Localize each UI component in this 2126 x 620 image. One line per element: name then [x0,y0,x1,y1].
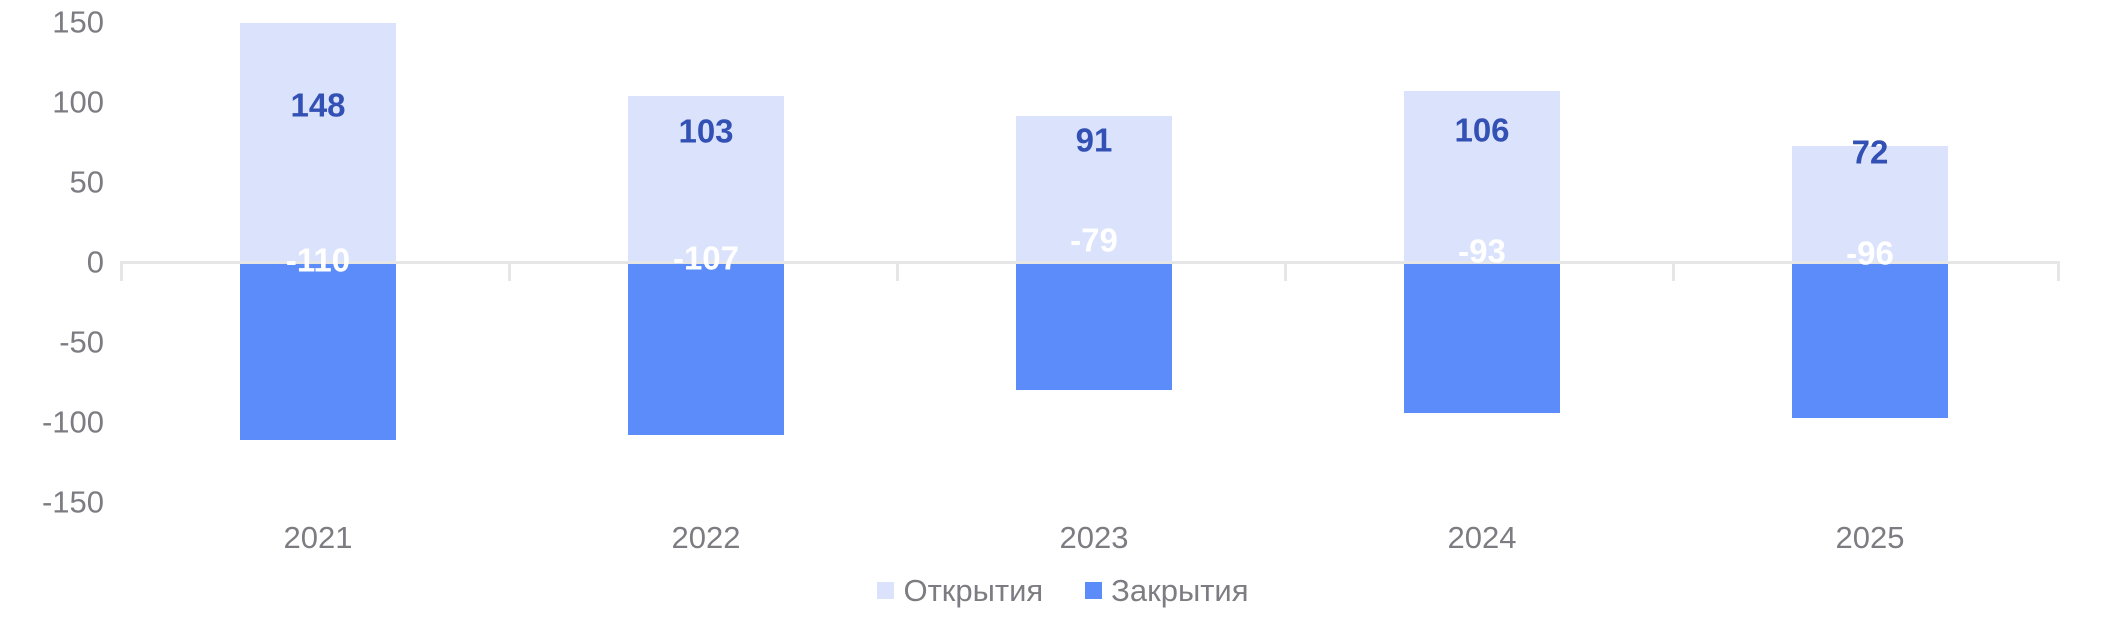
bar-value-openings-2025: 72 [1792,136,1948,169]
legend-label-openings: Открытия [903,575,1043,606]
y-axis: 150 100 50 0 -50 -100 -150 [0,0,104,620]
bar-value-closings-2023: -79 [1016,224,1172,257]
axis-tick-2 [896,264,899,281]
legend-label-closings: Закрытия [1111,575,1248,606]
bar-closings-2025[interactable] [1792,264,1948,418]
y-tick-label-150: 150 [0,7,104,38]
legend-swatch-closings-icon [1085,582,1102,599]
axis-tick-start [120,264,123,281]
axis-tick-3 [1284,264,1287,281]
bar-group-2022[interactable]: 103 -107 [628,0,784,520]
bar-group-2025[interactable]: 72 -96 [1792,0,1948,520]
bar-group-2021[interactable]: 148 -110 [240,0,396,520]
bar-closings-2024[interactable] [1404,264,1560,413]
bar-openings-2021[interactable] [240,23,396,261]
legend-item-openings[interactable]: Открытия [877,575,1043,606]
bar-value-openings-2024: 106 [1404,114,1560,147]
x-tick-label-2023: 2023 [1016,522,1172,553]
x-tick-label-2024: 2024 [1404,522,1560,553]
bar-value-closings-2021: -110 [240,244,396,277]
bar-value-closings-2024: -93 [1404,235,1560,268]
bar-value-openings-2022: 103 [628,115,784,148]
y-tick-label-50: 50 [0,167,104,198]
x-tick-label-2021: 2021 [240,522,396,553]
axis-tick-1 [508,264,511,281]
y-tick-label-0: 0 [0,247,104,278]
y-tick-label-neg100: -100 [0,407,104,438]
bar-value-closings-2022: -107 [628,242,784,275]
legend-item-closings[interactable]: Закрытия [1085,575,1248,606]
y-tick-label-100: 100 [0,87,104,118]
bar-closings-2022[interactable] [628,264,784,435]
y-tick-label-neg50: -50 [0,327,104,358]
axis-tick-end [2057,264,2060,281]
bar-group-2024[interactable]: 106 -93 [1404,0,1560,520]
x-tick-label-2022: 2022 [628,522,784,553]
axis-tick-4 [1672,264,1675,281]
bar-value-openings-2021: 148 [240,89,396,122]
y-tick-label-neg150: -150 [0,487,104,518]
chart-legend: Открытия Закрытия [0,575,2126,606]
plot-area: 148 -110 103 -107 91 -79 106 -93 [120,0,2060,520]
bar-chart: 150 100 50 0 -50 -100 -150 148 -110 103 … [0,0,2126,620]
bar-closings-2021[interactable] [240,264,396,440]
bar-value-openings-2023: 91 [1016,124,1172,157]
x-tick-label-2025: 2025 [1792,522,1948,553]
bar-closings-2023[interactable] [1016,264,1172,390]
bar-value-closings-2025: -96 [1792,237,1948,270]
legend-swatch-openings-icon [877,582,894,599]
bar-group-2023[interactable]: 91 -79 [1016,0,1172,520]
